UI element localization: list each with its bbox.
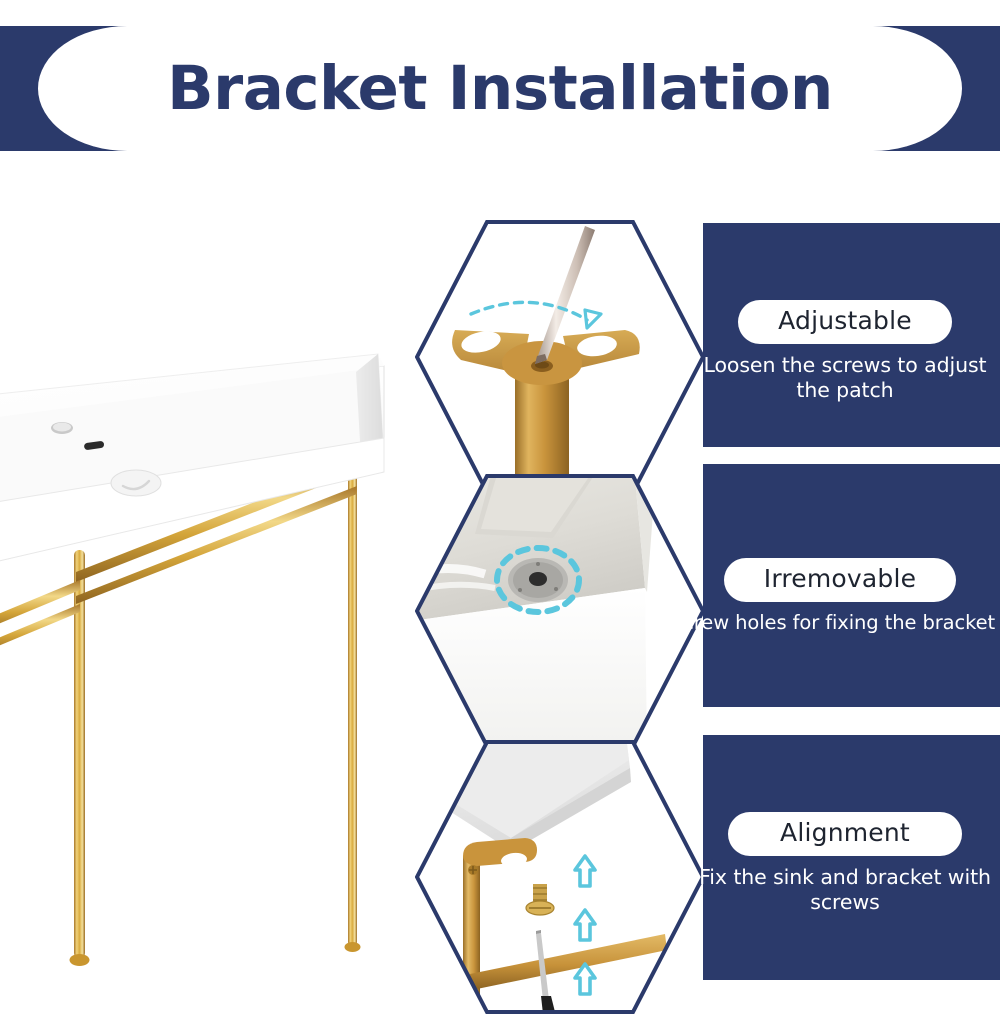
info-text-alignment: Alignment Fix the sink and bracket with … [680, 812, 1000, 916]
product-image-console-sink [0, 250, 440, 970]
hexagon-panel-irremovable [415, 472, 705, 750]
panel-caption-adjustable: Loosen the screws to adjust the patch [680, 353, 1000, 404]
sink-basin [0, 354, 384, 570]
panel-label-alignment: Alignment [728, 812, 962, 856]
hexagon-panel-alignment [415, 738, 705, 1016]
sink-underside-screw-hole [415, 472, 655, 750]
hexagon-panel-adjustable [415, 218, 705, 496]
panel-label-adjustable: Adjustable [738, 300, 952, 344]
caption-line: screws [686, 890, 1000, 916]
info-text-irremovable: Irremovable Screw holes for fixing the b… [680, 558, 1000, 635]
panel-caption-alignment: Fix the sink and bracket with screws [680, 865, 1000, 916]
panel-caption-irremovable: Screw holes for fixing the bracket [666, 611, 1000, 635]
panel-label-irremovable: Irremovable [724, 558, 956, 602]
caption-line: Loosen the screws to adjust [686, 353, 1000, 379]
caption-line: Fix the sink and bracket with [686, 865, 1000, 891]
header-banner: Bracket Installation [0, 26, 1000, 151]
info-text-adjustable: Adjustable Loosen the screws to adjust t… [680, 300, 1000, 404]
page-title: Bracket Installation [0, 26, 1000, 151]
caption-line: the patch [686, 378, 1000, 404]
